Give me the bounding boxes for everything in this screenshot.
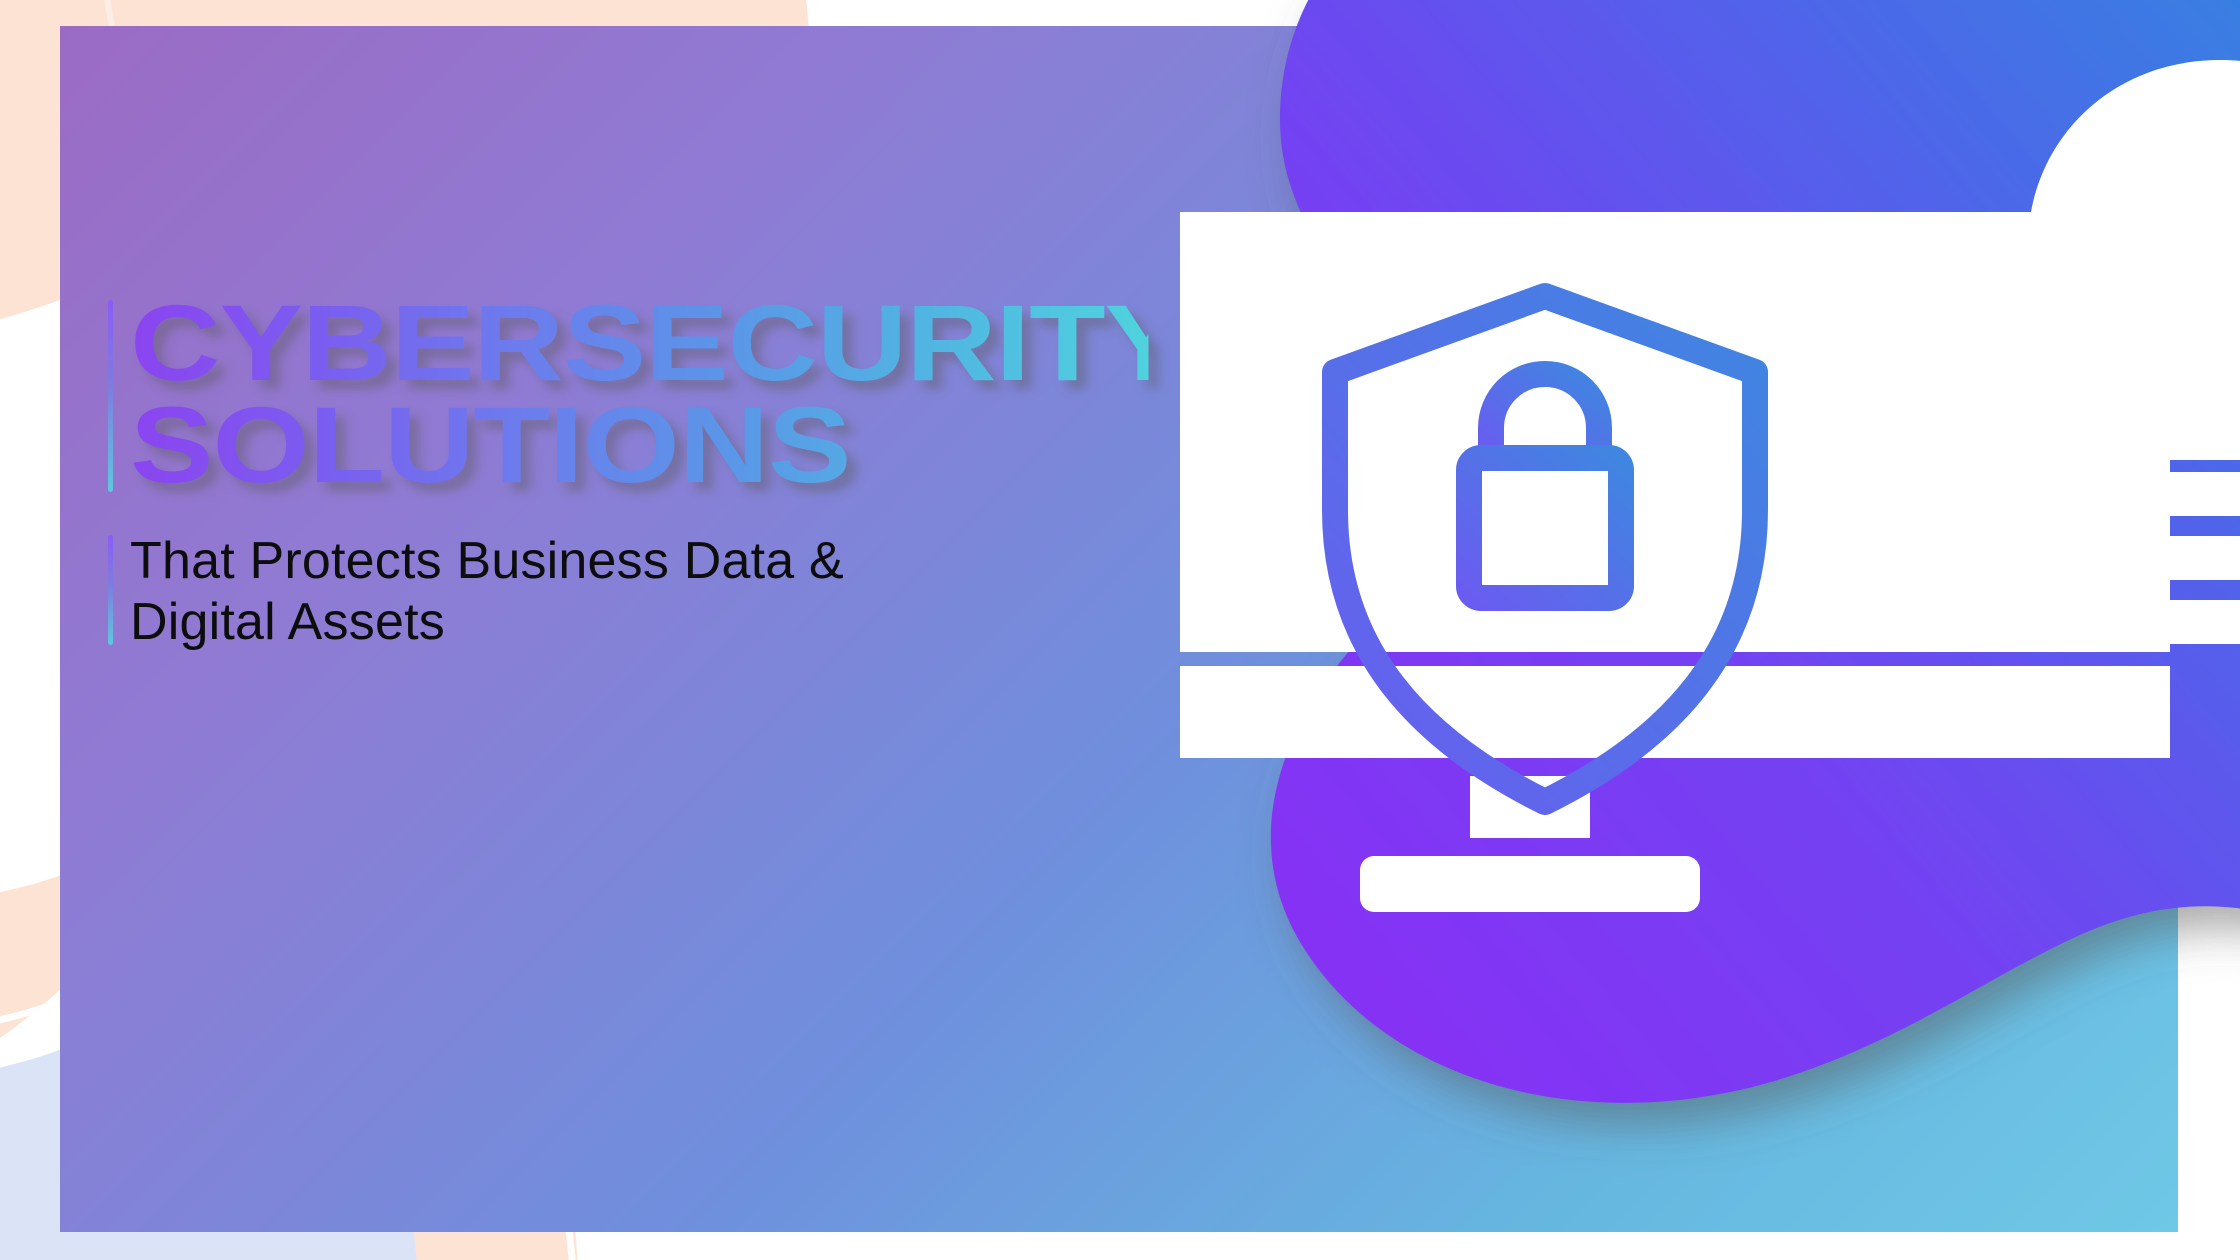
subheadline-wrap: That Protects Business Data & Digital As… [108,531,1008,654]
subheadline-line-2: Digital Assets [130,593,445,651]
text-block: CYBERSECURITY SOLUTIONS That Protects Bu… [108,292,1008,654]
headline-wrap: CYBERSECURITY SOLUTIONS [108,292,1008,495]
subheadline-line-1: That Protects Business Data & [130,532,844,590]
headline-accent-bar [108,300,113,492]
cybersecurity-illustration [1180,0,2240,1260]
page-title: CYBERSECURITY SOLUTIONS [130,292,1148,495]
subheadline-accent-bar [108,535,113,645]
headline-line-2: SOLUTIONS [130,394,1148,496]
page-subtitle: That Protects Business Data & Digital As… [130,531,1008,654]
slide-canvas: CYBERSECURITY SOLUTIONS That Protects Bu… [0,0,2240,1260]
